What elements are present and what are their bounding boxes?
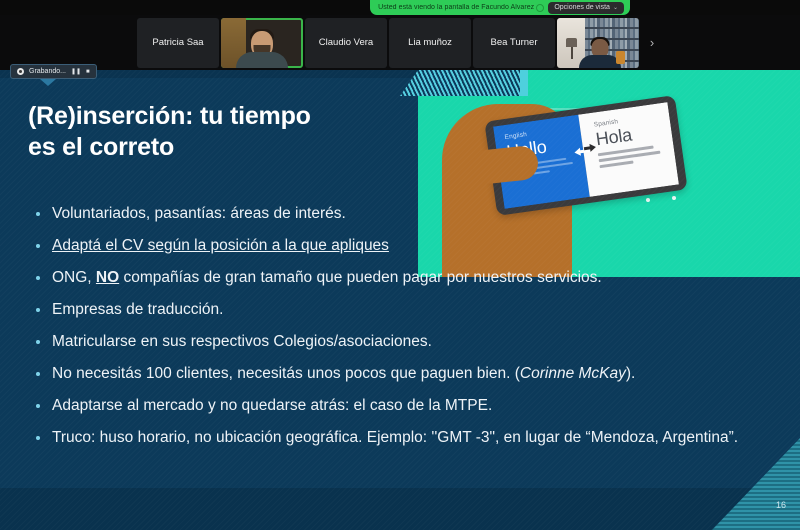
slide-bullet-item: ONG, NO compañías de gran tamaño que pue… <box>32 268 772 288</box>
screen-share-banner: Usted está viendo la pantalla de Facundo… <box>370 0 630 15</box>
bullet-text-run: ONG, <box>52 269 96 286</box>
view-options-button[interactable]: Opciones de vista ⌄ <box>548 2 624 14</box>
webcam-avatar-body <box>236 52 288 68</box>
record-dot-icon <box>17 68 24 75</box>
chevron-down-icon: ⌄ <box>613 5 618 11</box>
filmstrip-tiles: Patricia Saa Claudio Vera Lia muñoz Bea … <box>137 18 663 68</box>
bullet-text-run: NO <box>96 269 119 286</box>
bullet-text-run: Corinne McKay <box>520 365 626 382</box>
slide-bullet-item: Adaptarse al mercado y no quedarse atrás… <box>32 396 772 416</box>
participant-tile-claudio-vera[interactable]: Claudio Vera <box>305 18 387 68</box>
participant-tile-patricia-saa[interactable]: Patricia Saa <box>137 18 219 68</box>
slide-bullet-item: Matricularse en sus respectivos Colegios… <box>32 332 772 352</box>
shared-slide: English Hello Spanish Hola <box>0 70 800 530</box>
zoom-meeting-window: Usted está viendo la pantalla de Facundo… <box>0 0 800 530</box>
slide-bullet-item: Voluntariados, pasantías: áreas de inter… <box>32 204 772 224</box>
participant-filmstrip: Patricia Saa Claudio Vera Lia muñoz Bea … <box>0 15 800 70</box>
lamp-icon <box>566 38 577 47</box>
bullet-text-run: Adaptarse al mercado y no quedarse atrás… <box>52 397 492 414</box>
lamp-stem <box>571 47 573 59</box>
placeholder-line <box>599 160 633 168</box>
bullet-text-run: Empresas de traducción. <box>52 301 223 318</box>
slide-bullet-item: No necesitás 100 clientes, necesitás uno… <box>32 364 772 384</box>
decoration-dot <box>672 196 676 200</box>
share-notice-text: Usted está viendo la pantalla de Facundo… <box>376 4 536 11</box>
chevron-right-icon: › <box>650 35 654 50</box>
participant-tile-bea-turner[interactable]: Bea Turner <box>473 18 555 68</box>
plant-decoration <box>616 51 625 64</box>
participant-name: Lia muñoz <box>404 37 456 48</box>
slide-bottom-band <box>0 488 800 530</box>
participant-name: Bea Turner <box>487 37 542 48</box>
bullet-text-run: Adaptá el CV según la posición a la que … <box>52 237 389 254</box>
slide-title: (Re)inserción: tu tiempo es el correto <box>28 101 388 164</box>
bullet-text-run: compañías de gran tamaño que pueden paga… <box>119 269 602 286</box>
webcam-avatar-body <box>579 55 621 68</box>
view-options-label: Opciones de vista <box>554 4 610 11</box>
bullet-text-run: No necesitás 100 clientes, necesitás uno… <box>52 365 520 382</box>
bullet-text-run: Voluntariados, pasantías: áreas de inter… <box>52 205 346 222</box>
toolbar-drag-handle[interactable] <box>40 79 56 86</box>
bullet-text-run: ). <box>626 365 635 382</box>
bullet-text-run: Truco: huso horario, no ubicación geográ… <box>52 429 738 446</box>
slide-bullet-list: Voluntariados, pasantías: áreas de inter… <box>32 204 772 460</box>
recording-label: Grabando... <box>29 68 66 75</box>
participant-tile-facundo-alvarez[interactable] <box>221 18 303 68</box>
pause-recording-button[interactable]: ❚❚ <box>71 69 81 75</box>
slide-bullet-item: Adaptá el CV según la posición a la que … <box>32 236 772 256</box>
filmstrip-next-page-button[interactable]: › <box>641 18 663 68</box>
slide-bullet-item: Empresas de traducción. <box>32 300 772 320</box>
participant-name: Patricia Saa <box>148 37 207 48</box>
slide-page-number: 16 <box>776 500 786 510</box>
decoration-dot <box>646 198 650 202</box>
participant-tile-video-6[interactable] <box>557 18 639 68</box>
bullet-text-run: Matricularse en sus respectivos Colegios… <box>52 333 432 350</box>
slide-bullet-item: Truco: huso horario, no ubicación geográ… <box>32 428 772 448</box>
stop-recording-button[interactable]: ■ <box>86 69 90 75</box>
diagonal-stripe-decoration <box>400 70 520 96</box>
participant-tile-lia-munoz[interactable]: Lia muñoz <box>389 18 471 68</box>
participant-name: Claudio Vera <box>315 37 377 48</box>
share-status-indicator-icon <box>536 4 544 12</box>
recording-indicator[interactable]: Grabando... ❚❚ ■ <box>10 64 97 79</box>
